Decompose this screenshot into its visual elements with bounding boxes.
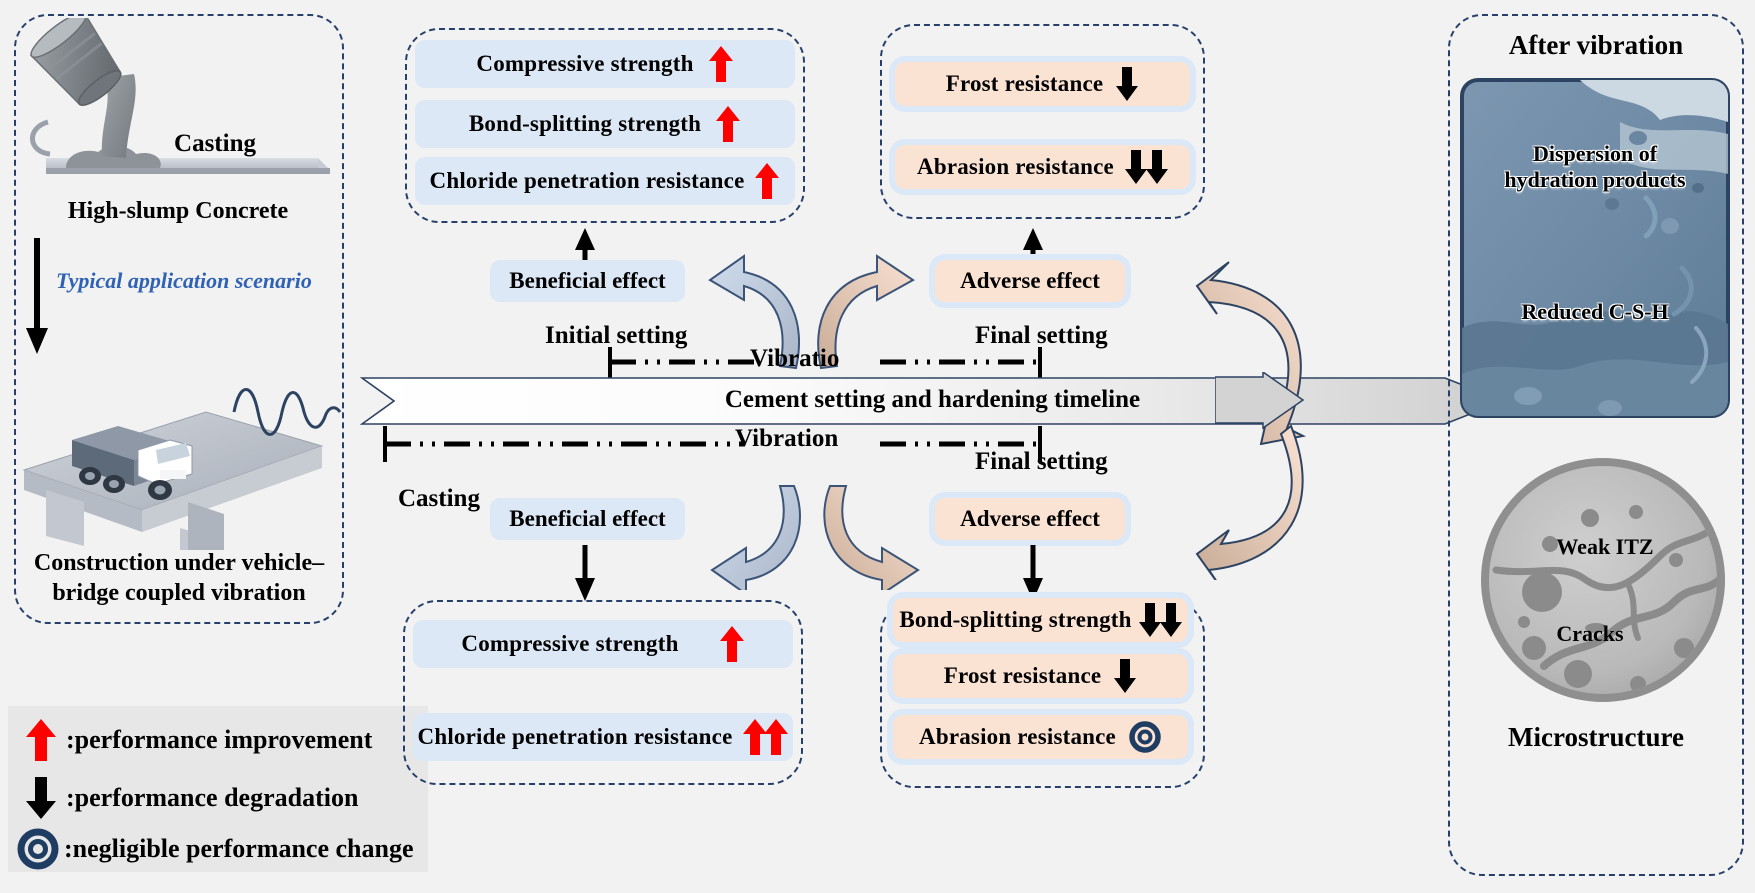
- pill-label: Compressive strength: [476, 51, 693, 77]
- high-slump-concrete-label: High-slump Concrete: [28, 198, 328, 225]
- top-right-effects-panel: [880, 24, 1205, 219]
- timeline-label-final-setting-bottom: Final setting: [975, 448, 1108, 476]
- chip-label: Beneficial effect: [509, 506, 665, 532]
- legend-item-improvement: :performance improvement: [24, 714, 424, 766]
- legend-label-degradation: :performance degradation: [66, 783, 358, 813]
- pill-chloride-penetration-resistance-bottom: Chloride penetration resistance: [413, 713, 793, 761]
- legend-label-negligible: :negligible performance change: [64, 834, 414, 864]
- pill-frost-resistance-bottom: Frost resistance: [893, 654, 1188, 698]
- black-down-arrow-icon: [1113, 657, 1137, 695]
- legend-item-degradation: :performance degradation: [24, 772, 424, 824]
- pill-label: Frost resistance: [946, 71, 1104, 97]
- red-up-arrow-icon: [754, 161, 780, 201]
- pill-label: Chloride penetration resistance: [430, 168, 745, 194]
- after-vibration-title: After vibration: [1450, 30, 1742, 61]
- chip-label: Adverse effect: [960, 506, 1100, 532]
- microstructure-label-weak-itz: Weak ITZ: [1500, 535, 1710, 560]
- pill-label: Bond-splitting strength: [469, 111, 701, 137]
- typical-application-scenario-label: Typical application scenario: [56, 268, 312, 294]
- black-double-down-arrow-icon: [1138, 601, 1182, 639]
- chip-label: Adverse effect: [960, 268, 1100, 294]
- black-double-down-arrow-icon: [1124, 148, 1168, 186]
- pill-label: Frost resistance: [944, 663, 1102, 689]
- sem-label-dispersion-line1: Dispersion of: [1470, 142, 1720, 167]
- red-up-arrow-icon: [708, 44, 734, 84]
- scene-caption-line2: bridge coupled vibration: [22, 578, 336, 608]
- pill-frost-resistance-top: Frost resistance: [895, 62, 1190, 106]
- red-up-arrow-icon: [715, 104, 741, 144]
- red-double-up-arrow-icon: [742, 717, 788, 757]
- pill-label: Bond-splitting strength: [899, 607, 1131, 633]
- timeline-label-initial-setting: Initial setting: [545, 322, 687, 350]
- scene-caption-line1: Construction under vehicle–: [22, 548, 336, 578]
- downward-flow-arrow-icon: [24, 238, 50, 356]
- pill-compressive-strength-bottom: Compressive strength: [413, 620, 793, 668]
- double-circle-icon: [16, 828, 60, 870]
- sem-image-after-vibration: [1460, 78, 1730, 418]
- microstructure-circle-image: [1478, 452, 1728, 712]
- legend-label-improvement: :performance improvement: [66, 725, 372, 755]
- casting-label: Casting: [150, 130, 280, 158]
- black-down-arrow-icon: [1115, 65, 1139, 103]
- chip-beneficial-effect-top: Beneficial effect: [490, 260, 685, 302]
- concrete-casting-illustration: [18, 18, 340, 218]
- chip-label: Beneficial effect: [509, 268, 665, 294]
- chip-adverse-effect-bottom: Adverse effect: [935, 498, 1125, 540]
- arrow-beneficial-to-bottom-left-panel-icon: [572, 545, 598, 601]
- pill-abrasion-resistance-bottom: Abrasion resistance: [893, 715, 1188, 759]
- sem-label-dispersion-line2: hydration products: [1470, 168, 1720, 193]
- pill-abrasion-resistance-top: Abrasion resistance: [895, 145, 1190, 189]
- pill-label: Abrasion resistance: [917, 154, 1114, 180]
- double-circle-icon: [1128, 720, 1162, 754]
- timeline-label-final-setting-top: Final setting: [975, 322, 1108, 350]
- legend-item-negligible: :negligible performance change: [16, 826, 436, 872]
- chip-beneficial-effect-bottom: Beneficial effect: [490, 498, 685, 540]
- red-up-arrow-icon: [719, 624, 745, 664]
- curved-arrow-vibration-to-beneficial-bottom-icon: [690, 480, 820, 590]
- timeline-label-casting: Casting: [398, 485, 480, 513]
- timeline-arrowhead-to-right-icon: [1215, 372, 1305, 432]
- microstructure-title: Microstructure: [1450, 722, 1742, 753]
- red-up-arrow-icon: [24, 717, 58, 763]
- graphical-abstract: Casting High-slump Concrete Typical appl…: [0, 0, 1755, 893]
- pill-label: Abrasion resistance: [919, 724, 1116, 750]
- microstructure-label-cracks: Cracks: [1490, 622, 1690, 647]
- timeline-label: Cement setting and hardening timeline: [360, 386, 1505, 414]
- curved-arrow-vibration-to-adverse-bottom-icon: [808, 480, 943, 590]
- sem-label-reduced-csh: Reduced C-S-H: [1470, 300, 1720, 325]
- pill-bond-splitting-strength-bottom: Bond-splitting strength: [893, 598, 1188, 642]
- chip-adverse-effect-top: Adverse effect: [935, 260, 1125, 302]
- pill-chloride-penetration-resistance-top: Chloride penetration resistance: [415, 157, 795, 205]
- curved-arrow-microstructure-to-adverse-bottom-icon: [1195, 420, 1330, 580]
- pill-compressive-strength-top: Compressive strength: [415, 40, 795, 88]
- vibration-wave-icon: [232, 370, 342, 450]
- timeline-label-vibration-bottom: Vibration: [735, 425, 838, 453]
- black-down-arrow-icon: [24, 775, 58, 821]
- pill-label: Compressive strength: [461, 631, 678, 657]
- timeline-label-vibration-top: Vibratio: [750, 345, 839, 373]
- arrow-adverse-to-bottom-right-panel-icon: [1020, 545, 1046, 601]
- pill-label: Chloride penetration resistance: [418, 724, 733, 750]
- pill-bond-splitting-strength-top: Bond-splitting strength: [415, 100, 795, 148]
